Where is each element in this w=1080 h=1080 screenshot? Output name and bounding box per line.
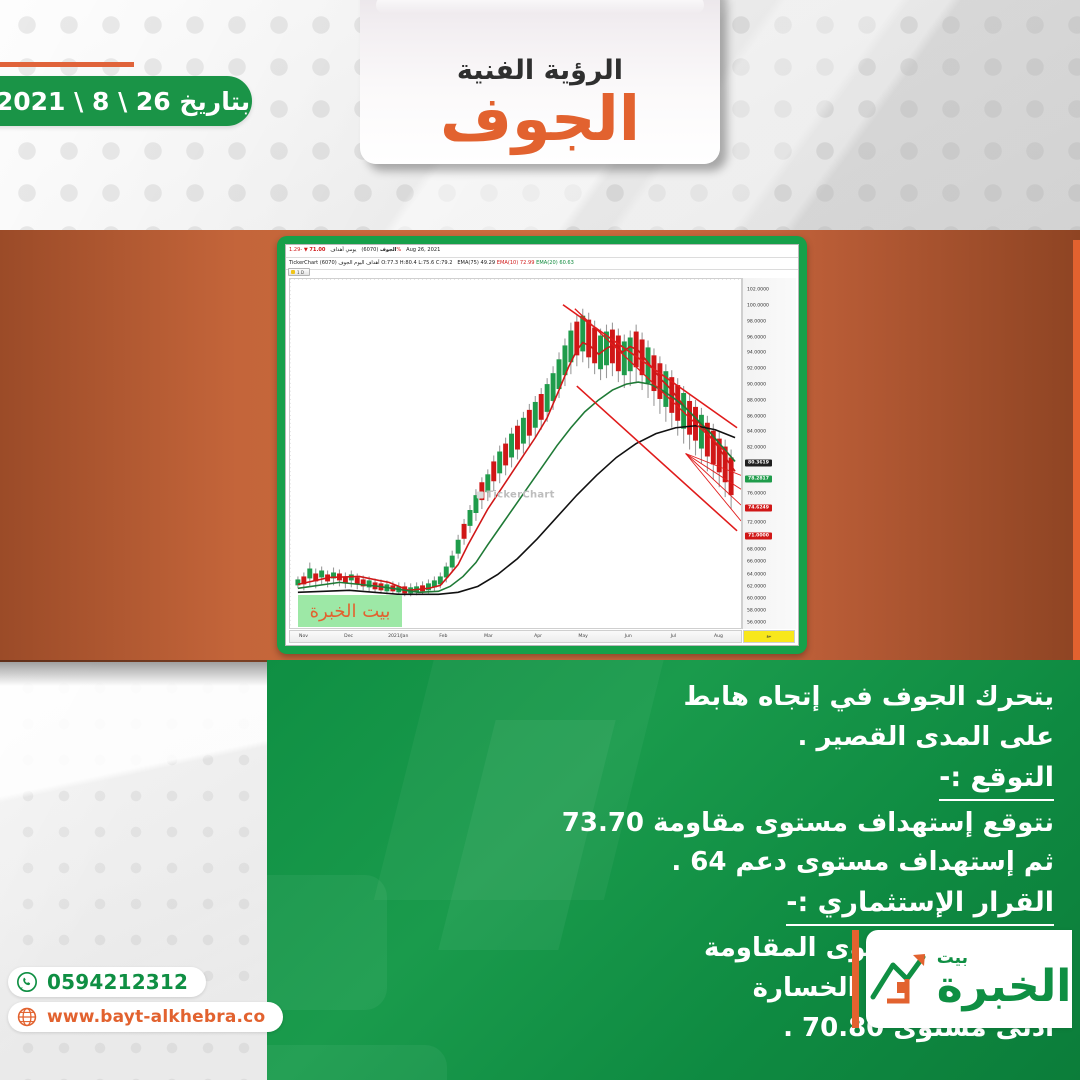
price-tick: 72.0000 [747,520,766,525]
time-tick: Aug [714,634,723,639]
price-tick: 56.0000 [747,621,766,626]
price-tick: 76.0000 [747,491,766,496]
price-tick: 62.0000 [747,584,766,589]
price-tick: 88.0000 [747,398,766,403]
time-tick: May [578,634,588,639]
price-tick: 92.0000 [747,367,766,372]
price-tick: 98.0000 [747,319,766,324]
ema20-value: 60.63 [559,260,574,266]
time-tick: Dec [344,634,353,639]
page-title: الجوف [440,88,640,150]
chart-close: C:79.2 [436,260,453,266]
analysis-line: يتحرك الجوف في إتجاه هابط [494,678,1054,718]
title-card: الرؤية الفنية الجوف [360,0,720,164]
chart-date: Aug 26, 2021 [406,247,440,253]
chart-symbol-name: الجوف [380,247,396,253]
chart-header-line-1: الجوف (6070) يومي أهداف 71.00 ▼ -1.29% A… [286,245,798,258]
rally-trendline [575,309,727,454]
chart-header-line-2: TickerChart أهداف اليوم الجوف (6070) O:7… [286,258,798,271]
chart-svg [290,279,741,628]
growth-arrow-house-icon [867,949,933,1009]
globe-icon [16,1006,38,1028]
analysis-line: على المدى القصير . [494,718,1054,758]
ema10-value: 72.99 [520,260,535,266]
chart-period: يومي [345,247,356,253]
ema75-value: 49.29 [481,260,496,266]
logo-accent-strip [852,930,859,1028]
brand-logo[interactable]: بيت الخبرة [866,930,1072,1028]
price-tick: 60.0000 [747,597,766,602]
price-tick: 86.0000 [747,414,766,419]
forecast-heading-wrap: التوقع :- [494,758,1054,804]
decision-heading-wrap: القرار الإستثماري :- [494,883,1054,929]
chart-footer-badge-label: بيع [767,634,772,639]
date-accent-rule [0,62,134,67]
time-tick: 2021/Jan [388,634,408,639]
time-tick: Feb [439,634,447,639]
price-tick: 84.0000 [747,430,766,435]
date-badge-label: بتاريخ 26 \ 8 \ 2021 [0,87,250,116]
time-tick: Jun [625,634,632,639]
ema75-label: EMA(75) [457,260,479,266]
price-tag-green: 78.2817 [745,475,772,482]
chart-plot-area[interactable]: TickerChart [289,278,742,629]
panel-decoration-3 [267,875,387,1010]
price-tag-black: 80.3619 [745,459,772,466]
date-badge: بتاريخ 26 \ 8 \ 2021 [0,76,252,126]
time-tick: Jul [671,634,677,639]
price-tag-red-1: 74.6249 [745,505,772,512]
chart-footer-badge: بيع [743,630,795,643]
chart-last-price: 71.00 [309,247,325,253]
chart-period-alt: أهداف [330,247,343,253]
price-tick: 94.0000 [747,351,766,356]
price-tag-red-2: 71.0000 [745,532,772,539]
chart-brand-watermark-box: بيت الخبرة [298,595,402,627]
chart-low: L:75.6 [418,260,434,266]
chart-screenshot: الجوف (6070) يومي أهداف 71.00 ▼ -1.29% A… [285,244,799,646]
chart-frame: الجوف (6070) يومي أهداف 71.00 ▼ -1.29% A… [277,236,807,654]
price-tick: 90.0000 [747,383,766,388]
price-tick: 66.0000 [747,560,766,565]
chart-code-2: (6070) [320,260,337,266]
price-tick: 68.0000 [747,548,766,553]
contact-phone-label: 0594212312 [47,970,188,994]
ema20-line [298,382,735,592]
chart-brand-watermark-label: بيت الخبرة [310,601,391,622]
chart-price-axis[interactable]: 102.0000 100.0000 98.0000 96.0000 94.000… [742,278,796,629]
ema10-label: EMA(10) [497,260,519,266]
price-tick: 82.0000 [747,446,766,451]
time-tick: Mar [484,634,493,639]
ema20-label: EMA(20) [536,260,558,266]
ema75-line [298,426,735,595]
forecast-heading: التوقع :- [939,758,1054,801]
chart-high: H:80.4 [400,260,417,266]
contact-website-label: www.bayt-alkhebra.co [47,1007,265,1027]
time-tick: Nov [299,634,308,639]
price-tick: 64.0000 [747,572,766,577]
timeframe-swatch-icon [291,270,295,274]
candlestick-series [295,309,733,597]
decision-heading: القرار الإستثماري :- [786,883,1054,926]
poster-root: بتاريخ 26 \ 8 \ 2021 الرؤية الفنية الجوف… [0,0,1080,1080]
chart-trend-arrow-icon: ▼ [304,247,308,253]
chart-time-axis[interactable]: Nov Dec 2021/Jan Feb Mar Apr May Jun Jul… [289,630,742,643]
contact-website[interactable]: www.bayt-alkhebra.co [8,1002,283,1032]
whatsapp-icon [16,971,38,993]
chart-timeframe-button[interactable]: 1 D [288,268,310,276]
forecast-line: نتوقع إستهداف مستوى مقاومة 73.70 [494,804,1054,844]
title-card-sheen [376,0,704,14]
price-tick: 96.0000 [747,335,766,340]
brand-logo-words: بيت الخبرة [937,950,1072,1009]
chart-symbol-code: (6070) [361,247,378,253]
price-tick: 100.0000 [747,304,769,309]
panel-decoration-4 [267,1045,447,1080]
chart-brand: TickerChart [289,260,318,266]
chart-name-ar: أهداف اليوم الجوف [338,260,379,266]
time-tick: Apr [534,634,542,639]
price-tick: 58.0000 [747,609,766,614]
right-edge-accent-strip [1073,240,1080,670]
contact-phone[interactable]: 0594212312 [8,967,206,997]
chart-timeframe-label: 1 D [297,270,304,275]
forecast-line: ثم إستهداف مستوى دعم 64 . [494,843,1054,883]
brand-logo-big: الخبرة [937,965,1072,1009]
chart-open: O:77.3 [381,260,398,266]
price-tick: 102.0000 [747,288,769,293]
